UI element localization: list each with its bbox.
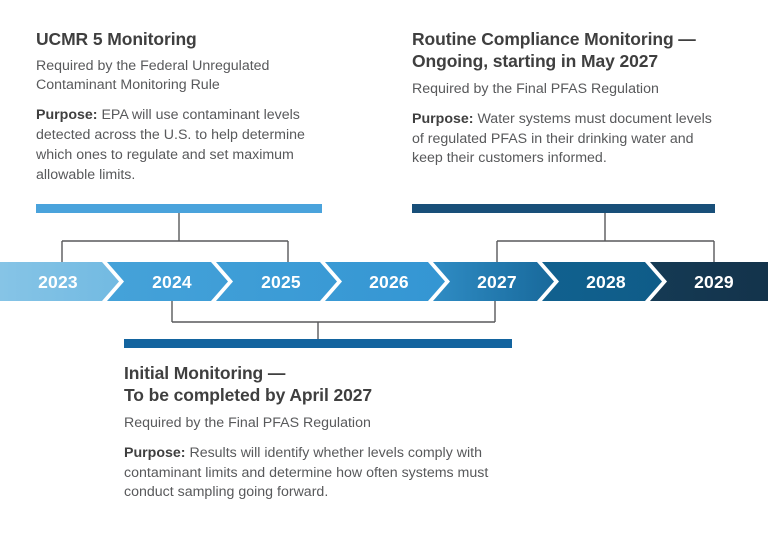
bracket-routine [497, 213, 714, 264]
bracket-initial [172, 299, 495, 339]
text-block-initial: Initial Monitoring — To be completed by … [124, 362, 524, 503]
timeline-segment-2027[interactable]: 2027 [433, 262, 554, 301]
timeline-segment-2026[interactable]: 2026 [325, 262, 445, 301]
timeline-year-label-2023: 2023 [38, 272, 78, 292]
routine-subtitle: Required by the Final PFAS Regulation [412, 80, 722, 99]
ucmr5-purpose-label: Purpose: [36, 107, 98, 123]
timeline-segment-2023[interactable]: 2023 [0, 262, 119, 301]
ucmr5-subtitle: Required by the Federal Unregulated Cont… [36, 57, 336, 95]
timeline-year-label-2025: 2025 [261, 272, 301, 292]
accent-bar-initial [124, 339, 512, 348]
timeline-strip: 2023 2024 2025 2026 2027 [0, 262, 768, 301]
routine-purpose-label: Purpose: [412, 111, 474, 127]
timeline-segment-2029[interactable]: 2029 [650, 262, 768, 301]
bracket-ucmr5 [62, 213, 288, 264]
timeline-year-label-2026: 2026 [369, 272, 409, 292]
timeline-year-label-2027: 2027 [477, 272, 517, 292]
timeline-year-label-2029: 2029 [694, 272, 734, 292]
accent-bar-ucmr5 [36, 204, 322, 213]
timeline-segment-2024[interactable]: 2024 [107, 262, 228, 301]
timeline-segment-2025[interactable]: 2025 [216, 262, 337, 301]
accent-bar-routine [412, 204, 715, 213]
initial-purpose: Purpose: Results will identify whether l… [124, 444, 524, 504]
initial-subtitle: Required by the Final PFAS Regulation [124, 414, 524, 433]
text-block-routine: Routine Compliance Monitoring — Ongoing,… [412, 28, 722, 169]
initial-purpose-label: Purpose: [124, 445, 186, 461]
ucmr5-purpose: Purpose: EPA will use contaminant levels… [36, 106, 336, 186]
initial-title: Initial Monitoring — To be completed by … [124, 362, 524, 407]
timeline-year-label-2028: 2028 [586, 272, 626, 292]
timeline-segment-2028[interactable]: 2028 [542, 262, 662, 301]
ucmr5-title: UCMR 5 Monitoring [36, 28, 336, 50]
timeline-year-label-2024: 2024 [152, 272, 192, 292]
infographic-canvas: UCMR 5 Monitoring Required by the Federa… [0, 0, 768, 544]
routine-purpose: Purpose: Water systems must document lev… [412, 110, 722, 170]
routine-title: Routine Compliance Monitoring — Ongoing,… [412, 28, 722, 73]
text-block-ucmr5: UCMR 5 Monitoring Required by the Federa… [36, 28, 336, 186]
